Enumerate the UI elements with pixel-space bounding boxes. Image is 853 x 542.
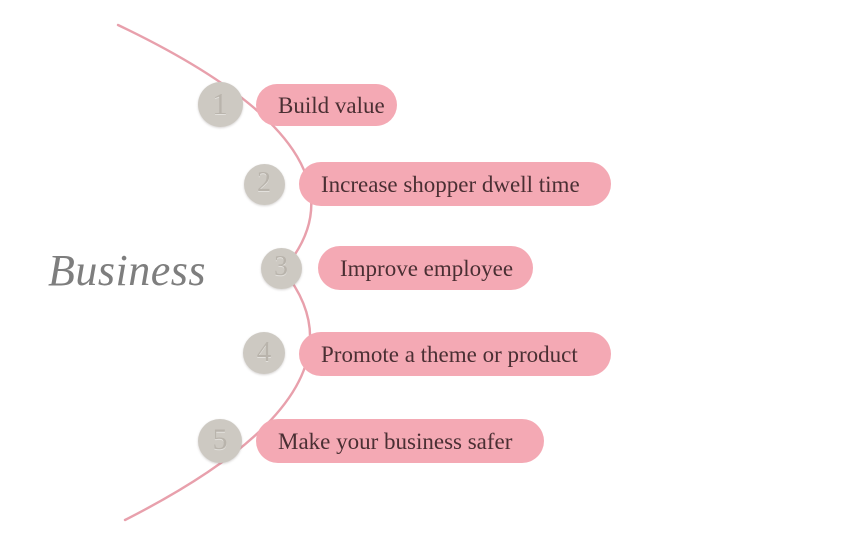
step-pill-3[interactable]: Improve employee [318,246,533,290]
step-pill-label: Make your business safer [278,430,512,453]
step-pill-4[interactable]: Promote a theme or product [299,332,611,376]
step-number-label: 2 [244,164,285,205]
step-number-label: 1 [198,82,243,127]
step-marker-2[interactable]: 2 [244,164,285,205]
step-pill-2[interactable]: Increase shopper dwell time [299,162,611,206]
step-marker-4[interactable]: 4 [243,332,285,374]
step-pill-label: Promote a theme or product [321,343,578,366]
step-marker-3[interactable]: 3 [261,248,302,289]
step-number-label: 4 [243,332,285,374]
step-number-label: 3 [261,248,302,289]
step-marker-5[interactable]: 5 [198,419,242,463]
section-title: Business [22,243,232,299]
step-number-label: 5 [198,419,242,463]
step-pill-1[interactable]: Build value [256,84,397,126]
business-benefits-infographic: Business 1 Build value 2 Increase shoppe… [0,0,853,542]
step-pill-label: Improve employee [340,257,513,280]
step-pill-label: Increase shopper dwell time [321,173,580,196]
step-marker-1[interactable]: 1 [198,82,243,127]
step-pill-label: Build value [278,94,385,117]
step-pill-5[interactable]: Make your business safer [256,419,544,463]
